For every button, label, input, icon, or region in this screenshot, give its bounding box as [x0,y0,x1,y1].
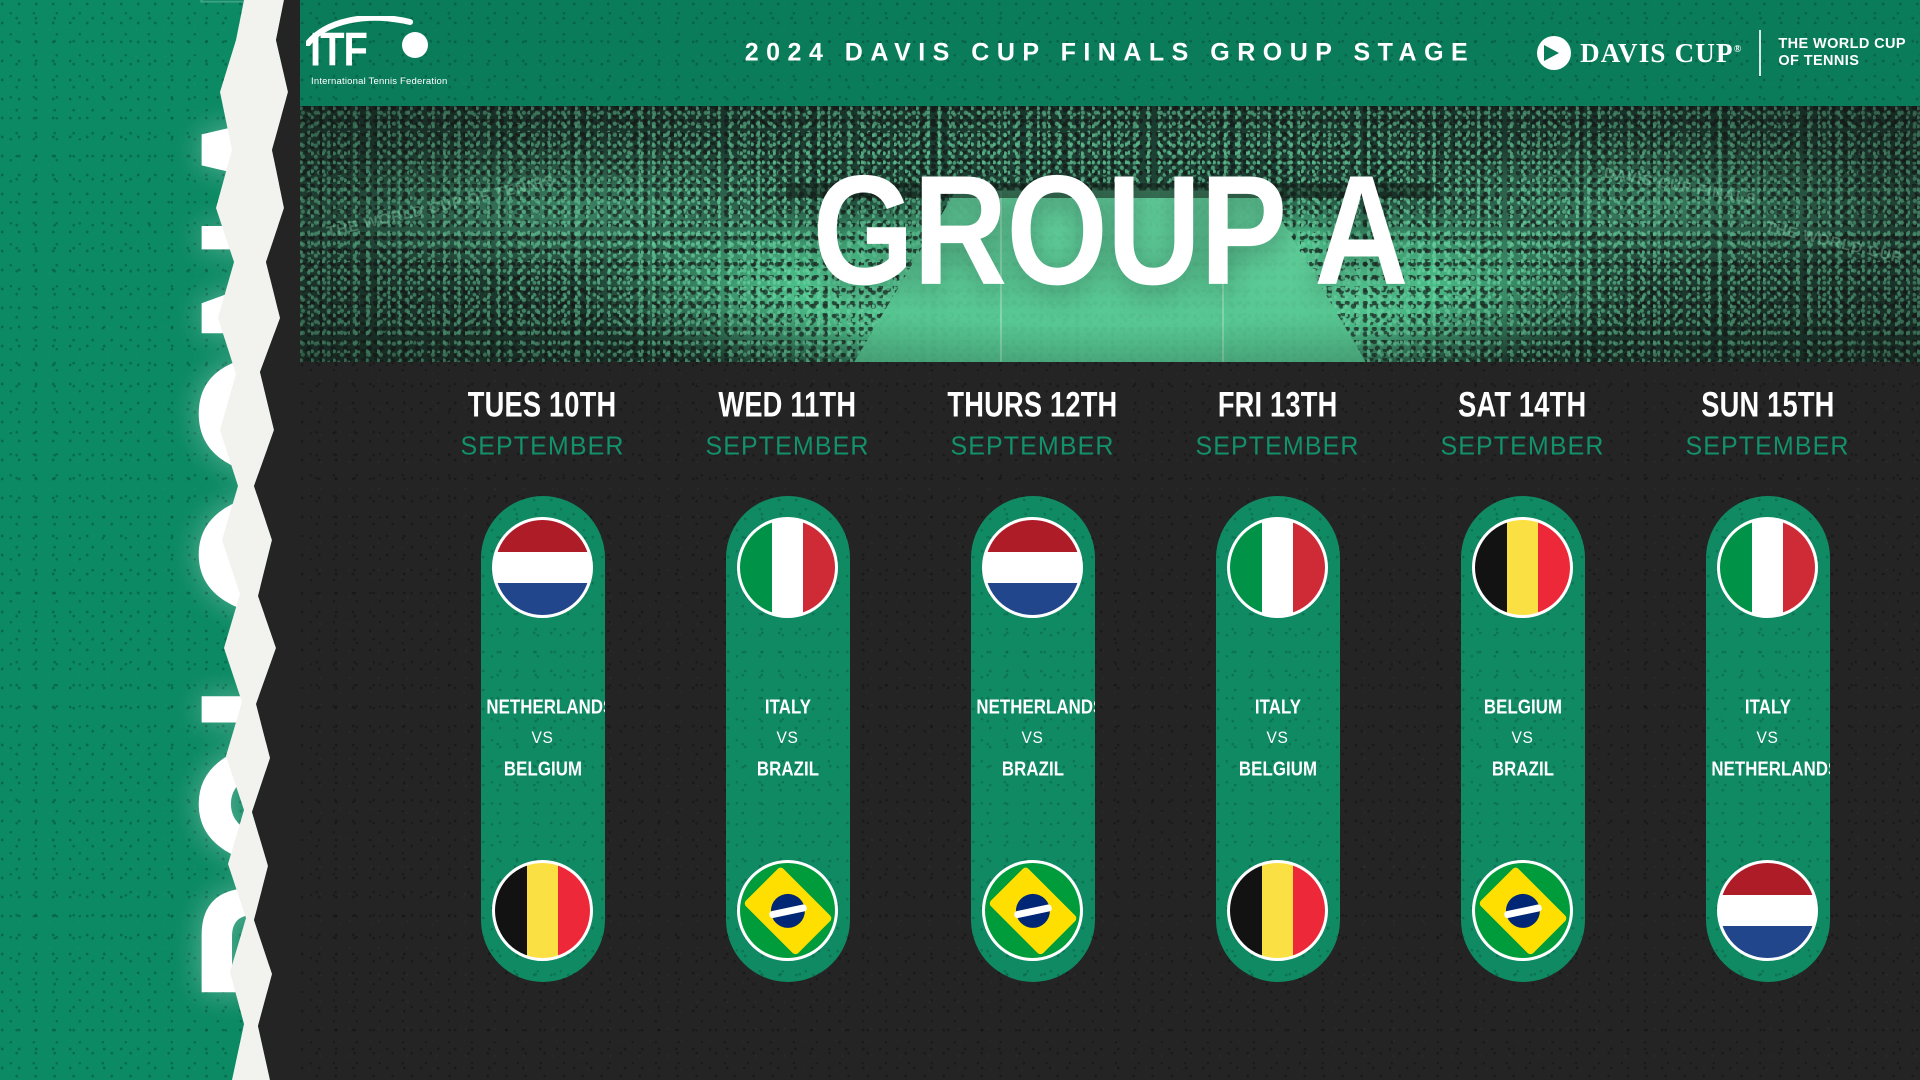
flag-netherlands [982,517,1083,618]
schedule-column: THURS 12THSEPTEMBERNETHERLANDSVSBRAZIL [910,392,1155,1032]
hero-stadium-image: THE WORLD CUP OF TENNIS DAVIS CUP FINALS… [300,106,1920,362]
home-team-name: ITALY [731,698,844,718]
flag-italy-design [1230,520,1325,615]
flag-netherlands-design [495,520,590,615]
flag-brazil-design [740,863,835,958]
davis-cup-wordmark: DAVIS CUP® [1580,38,1742,69]
flag-italy-band-2 [772,520,804,615]
flag-belgium [492,860,593,961]
match-date-day: THURS 12TH [947,389,1117,424]
flag-belgium-band-3 [558,863,590,958]
city-ghost-prefix: BO [158,0,300,26]
away-team-name: BRAZIL [731,760,844,780]
match-date-day: WED 11TH [719,389,857,424]
flag-netherlands-design [1720,863,1815,958]
vs-label: VS [484,729,602,748]
schedule-column: SAT 14THSEPTEMBERBELGIUMVSBRAZIL [1400,392,1645,1032]
davis-cup-text: DAVIS CUP [1580,38,1734,68]
match-teams: NETHERLANDSVSBRAZIL [971,699,1095,779]
flag-belgium-band-1 [1230,863,1262,958]
away-team-name: NETHERLANDS [1711,760,1824,780]
away-team-name: BRAZIL [1466,760,1579,780]
away-team-name: BRAZIL [976,760,1089,780]
flag-netherlands-band-1 [985,520,1080,552]
flag-italy-design [1720,520,1815,615]
flag-italy-band-3 [1783,520,1815,615]
flag-netherlands-band-3 [1720,926,1815,958]
match-date-day: TUES 10TH [468,389,617,424]
match-card[interactable]: NETHERLANDSVSBRAZIL [971,496,1095,982]
trademark-symbol: ® [1734,44,1743,55]
flag-belgium-band-1 [1475,520,1507,615]
match-date-month: SEPTEMBER [950,433,1114,459]
flag-netherlands-band-3 [985,583,1080,615]
flag-italy-design [740,520,835,615]
flag-belgium-design [1230,863,1325,958]
schedule-column: FRI 13THSEPTEMBERITALYVSBELGIUM [1155,392,1400,1032]
vs-label: VS [974,729,1092,748]
city-name-strip: NA BOLOGNA BO [150,0,300,1080]
vs-label: VS [1464,729,1582,748]
match-teams: ITALYVSNETHERLANDS [1706,699,1830,779]
tagline-line-2: OF TENNIS [1778,53,1906,70]
flag-belgium-design [495,863,590,958]
home-team-name: NETHERLANDS [976,698,1089,718]
flag-brazil [982,860,1083,961]
flag-italy [737,517,838,618]
flag-belgium [1227,860,1328,961]
match-date-month: SEPTEMBER [460,433,624,459]
home-team-name: ITALY [1221,698,1334,718]
schedule-column: WED 11THSEPTEMBERITALYVSBRAZIL [665,392,910,1032]
top-header-bar: ITF International Tennis Federation 2024… [300,0,1920,106]
flag-brazil [737,860,838,961]
match-card[interactable]: ITALYVSNETHERLANDS [1706,496,1830,982]
match-card[interactable]: ITALYVSBELGIUM [1216,496,1340,982]
davis-cup-lockup[interactable]: DAVIS CUP® THE WORLD CUP OF TENNIS [1537,30,1906,76]
flag-italy-band-3 [1293,520,1325,615]
home-team-name: NETHERLANDS [486,698,599,718]
away-team-name: BELGIUM [486,760,599,780]
vs-label: VS [1709,729,1827,748]
match-date-day: FRI 13TH [1218,389,1338,424]
schedule-column: SUN 15THSEPTEMBERITALYVSNETHERLANDS [1645,392,1890,1032]
vs-label: VS [1219,729,1337,748]
city-ghost-suffix: NA [158,1064,300,1080]
match-card[interactable]: ITALYVSBRAZIL [726,496,850,982]
davis-cup-arrow-icon [1537,36,1571,70]
match-teams: NETHERLANDSVSBELGIUM [481,699,605,779]
flag-belgium [1472,517,1573,618]
poster-canvas: NA BOLOGNA BO THE WORLD CUP OF TENNIS DA… [0,0,1920,1080]
match-date-month: SEPTEMBER [1440,433,1604,459]
match-date-day: SAT 14TH [1458,389,1586,424]
flag-italy-band-2 [1262,520,1294,615]
away-team-name: BELGIUM [1221,760,1334,780]
match-teams: BELGIUMVSBRAZIL [1461,699,1585,779]
city-name: BOLOGNA [158,73,300,1018]
flag-belgium-band-2 [1507,520,1539,615]
match-card[interactable]: NETHERLANDSVSBELGIUM [481,496,605,982]
match-teams: ITALYVSBELGIUM [1216,699,1340,779]
flag-netherlands-band-2 [1720,895,1815,927]
davis-cup-tagline: THE WORLD CUP OF TENNIS [1778,36,1906,70]
match-card[interactable]: BELGIUMVSBRAZIL [1461,496,1585,982]
group-title: GROUP A [300,153,1920,309]
flag-belgium-band-3 [1293,863,1325,958]
flag-netherlands-band-1 [495,520,590,552]
flag-brazil-design [1475,863,1570,958]
itf-subtitle: International Tennis Federation [311,76,447,87]
flag-italy-band-3 [803,520,835,615]
flag-netherlands [492,517,593,618]
match-date-month: SEPTEMBER [1195,433,1359,459]
home-team-name: BELGIUM [1466,698,1579,718]
flag-italy-band-1 [1720,520,1752,615]
flag-belgium-band-2 [527,863,559,958]
city-sidebar: NA BOLOGNA BO [0,0,300,1080]
flag-netherlands-band-2 [495,552,590,584]
tagline-line-1: THE WORLD CUP [1778,36,1906,53]
flag-brazil [1472,860,1573,961]
flag-italy [1227,517,1328,618]
flag-italy-band-2 [1752,520,1784,615]
flag-belgium-design [1475,520,1570,615]
lockup-divider [1759,30,1761,76]
match-teams: ITALYVSBRAZIL [726,699,850,779]
flag-italy-band-1 [1230,520,1262,615]
flag-belgium-band-1 [495,863,527,958]
match-date-month: SEPTEMBER [1685,433,1849,459]
match-schedule-grid: TUES 10THSEPTEMBERNETHERLANDSVSBELGIUMWE… [420,392,1890,1032]
flag-netherlands-band-3 [495,583,590,615]
flag-italy [1717,517,1818,618]
flag-netherlands [1717,860,1818,961]
flag-italy-band-1 [740,520,772,615]
flag-netherlands-design [985,520,1080,615]
flag-belgium-band-3 [1538,520,1570,615]
flag-belgium-band-2 [1262,863,1294,958]
home-team-name: ITALY [1711,698,1824,718]
flag-netherlands-band-1 [1720,863,1815,895]
flag-netherlands-band-2 [985,552,1080,584]
match-date-month: SEPTEMBER [705,433,869,459]
schedule-column: TUES 10THSEPTEMBERNETHERLANDSVSBELGIUM [420,392,665,1032]
flag-brazil-design [985,863,1080,958]
match-date-day: SUN 15TH [1701,389,1834,424]
vs-label: VS [729,729,847,748]
